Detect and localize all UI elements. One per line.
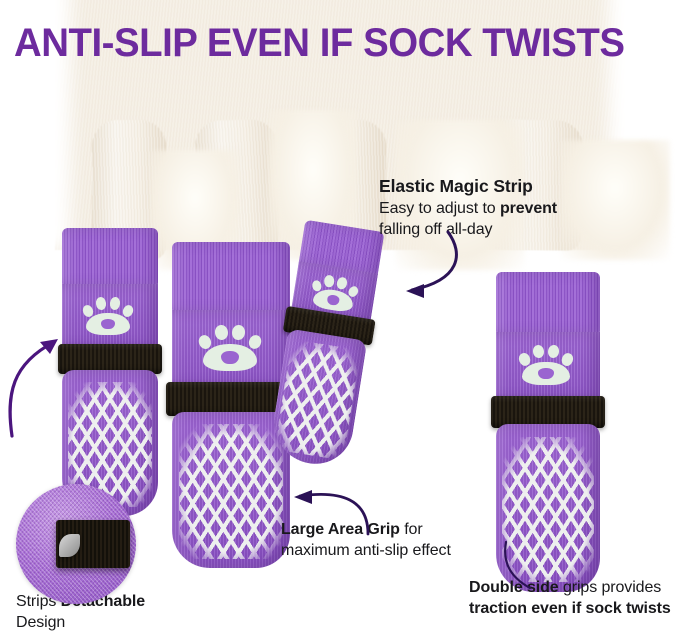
callout-title: Elastic Magic Strip bbox=[379, 175, 629, 198]
callout-line1-rest: for bbox=[400, 521, 423, 538]
paw-print-icon bbox=[198, 324, 262, 372]
zigzag-grip-pattern bbox=[179, 424, 283, 558]
callout-line2: Design bbox=[16, 612, 206, 633]
sock-cuff bbox=[172, 242, 290, 312]
sock-cuff bbox=[496, 272, 600, 334]
product-infographic: ANTI-SLIP EVEN IF SOCK TWISTS Elastic Ma… bbox=[0, 0, 679, 634]
curved-arrow-down-left-icon bbox=[372, 224, 492, 324]
detachable-strip-inset-photo bbox=[16, 484, 136, 604]
sock-cuff bbox=[62, 228, 158, 286]
callout-body-text: Easy to adjust to bbox=[379, 200, 500, 217]
curved-arrow-up-left-icon bbox=[272, 482, 382, 538]
curved-arrow-up-right-icon bbox=[0, 320, 100, 440]
callout-body-emphasis: prevent bbox=[500, 200, 557, 217]
page-title: ANTI-SLIP EVEN IF SOCK TWISTS bbox=[14, 21, 640, 65]
callout-line2: maximum anti-slip effect bbox=[281, 540, 531, 561]
zigzag-grip-pattern bbox=[274, 339, 361, 460]
callout-line2: traction even if sock twists bbox=[469, 598, 679, 619]
paw-print-icon bbox=[308, 272, 361, 315]
callout-strips-detachable: Strips Detachable Design bbox=[16, 591, 206, 633]
paw-print-icon bbox=[518, 344, 574, 386]
curved-line-icon bbox=[500, 540, 580, 592]
